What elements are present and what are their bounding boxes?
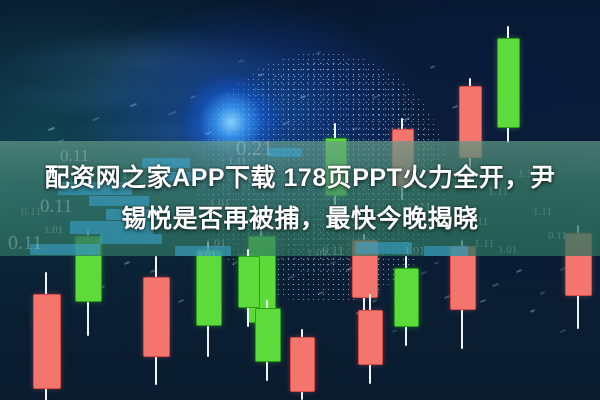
candlestick-body bbox=[497, 38, 520, 128]
candlestick bbox=[143, 256, 168, 385]
candlestick bbox=[196, 242, 220, 357]
data-bar bbox=[268, 148, 302, 157]
candlestick bbox=[450, 240, 474, 349]
ticker-number: 1.01 bbox=[197, 248, 216, 256]
candlestick-body bbox=[394, 268, 419, 327]
ticker-number: 1.01 bbox=[307, 246, 328, 256]
cover-image: 0.110.210.111.011.111.010.111.010.111.01… bbox=[0, 0, 600, 400]
candlestick-body bbox=[290, 337, 315, 392]
ticker-number: 1.01 bbox=[498, 244, 517, 256]
candlestick bbox=[33, 272, 59, 400]
candlestick bbox=[290, 329, 313, 400]
candlestick-body bbox=[358, 310, 383, 365]
candlestick bbox=[497, 26, 518, 143]
candlestick-body bbox=[238, 256, 260, 308]
candlestick bbox=[358, 294, 381, 384]
headline-line-2: 锡悦是否再被捕，最快今晚揭晓 bbox=[14, 199, 586, 240]
candlestick bbox=[255, 300, 279, 381]
ticker-number: 1.01 bbox=[404, 243, 425, 256]
data-bar bbox=[424, 246, 468, 256]
candlestick-body bbox=[33, 294, 61, 389]
candlestick bbox=[238, 249, 258, 327]
candlestick bbox=[394, 256, 417, 346]
page-title: 配资网之家APP下载 178页PPT火力全开，尹 锡悦是否再被捕，最快今晚揭晓 bbox=[0, 158, 600, 240]
candlestick-body bbox=[143, 277, 170, 357]
headline-line-1: 配资网之家APP下载 178页PPT火力全开，尹 bbox=[14, 158, 586, 199]
candlestick-body bbox=[255, 308, 281, 362]
candlestick-body bbox=[196, 250, 222, 326]
